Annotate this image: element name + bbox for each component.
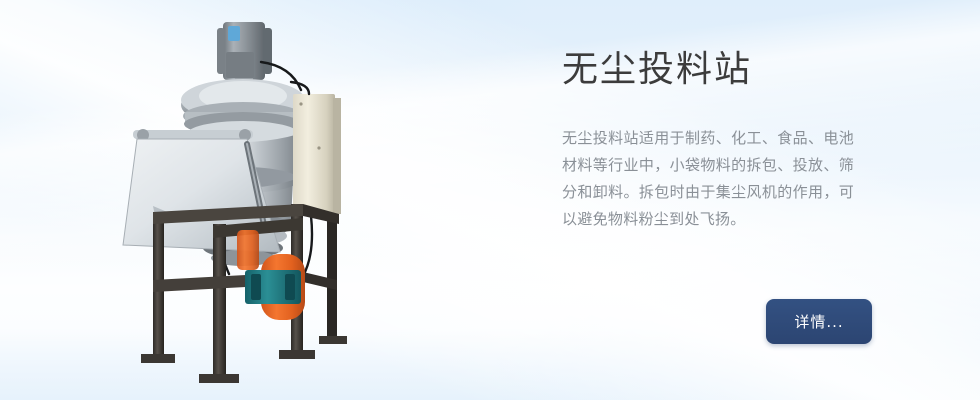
product-image <box>95 8 385 383</box>
banner-description: 无尘投料站适用于制药、化工、食品、电池材料等行业中，小袋物料的拆包、投放、筛分和… <box>562 125 854 233</box>
banner-copy: 无尘投料站 无尘投料站适用于制药、化工、食品、电池材料等行业中，小袋物料的拆包、… <box>562 46 892 233</box>
product-part-control-box <box>293 94 341 216</box>
detail-button[interactable]: 详情... <box>766 299 872 344</box>
page-title: 无尘投料站 <box>562 46 892 94</box>
product-banner: 无尘投料站 无尘投料站适用于制药、化工、食品、电池材料等行业中，小袋物料的拆包、… <box>0 0 980 400</box>
